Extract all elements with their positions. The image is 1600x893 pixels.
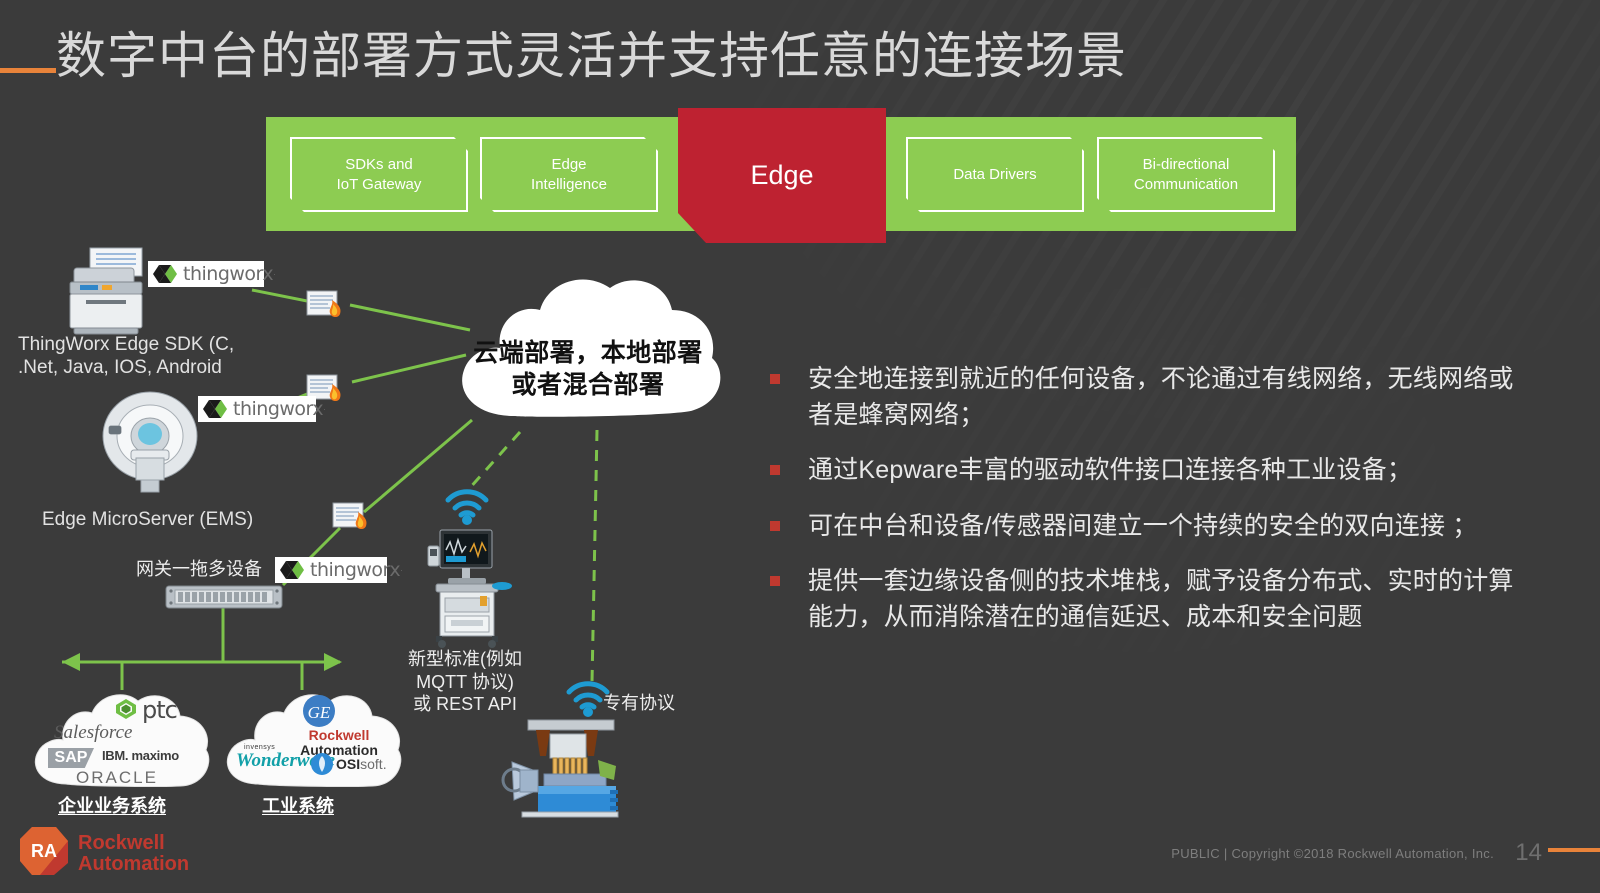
bullet-marker [770, 374, 780, 384]
edge-badge-label: Edge [750, 160, 813, 191]
thingworx-wordmark: thingworx [310, 559, 400, 581]
svg-text:GE: GE [308, 703, 331, 722]
bullet-list: 安全地连接到就近的任何设备，不论通过有线网络，无线网络或者是蜂窝网络； 通过Ke… [770, 362, 1530, 655]
capability-box-bi-directional-communication[interactable]: Bi-directional Communication [1097, 137, 1275, 212]
bullet-text: 通过Kepware丰富的驱动软件接口连接各种工业设备； [808, 453, 1412, 489]
bullet-marker [770, 576, 780, 586]
cloud-text-line1: 云端部署，本地部署 [444, 338, 732, 370]
capability-box-line1: Bi-directional [1134, 155, 1238, 174]
footer-accent-rule [1548, 848, 1600, 852]
bullet-item: 提供一套边缘设备侧的技术堆栈，赋予设备分布式、实时的计算能力，从而消除潜在的通信… [770, 564, 1530, 635]
slide-canvas: 数字中台的部署方式灵活并支持任意的连接场景 Deployment SDKs an… [0, 0, 1600, 893]
ptc-logo-icon [114, 698, 138, 720]
proprietary-protocol-label: 专有协议 [603, 692, 675, 715]
thingworx-logo-2: thingworx· [198, 396, 316, 422]
thingworx-mark-icon [202, 398, 228, 420]
rockwell-logo-line2: Automation [78, 853, 189, 875]
turbine-machine-icon [498, 714, 644, 820]
osisoft-wordmark: OSIsoft. [336, 756, 387, 772]
gateway-multi-device-label: 网关一拖多设备 [136, 558, 262, 581]
ge-logo-icon: GE [302, 694, 336, 728]
thingworx-wordmark: thingworx [233, 398, 323, 420]
industrial-systems-cloud: GE Rockwell Automation invensys Wonderwa… [222, 686, 404, 790]
bullet-item: 安全地连接到就近的任何设备，不论通过有线网络，无线网络或者是蜂窝网络； [770, 362, 1530, 433]
thingworx-mark-icon [279, 559, 305, 581]
thingworx-logo-1: thingworx· [148, 261, 264, 287]
bullet-text: 提供一套边缘设备侧的技术堆栈，赋予设备分布式、实时的计算能力，从而消除潜在的通信… [808, 564, 1530, 635]
network-switch-icon [165, 583, 283, 611]
capability-box-line1: SDKs and [337, 155, 422, 174]
capability-box-line1: Data Drivers [953, 165, 1036, 184]
capability-box-data-drivers[interactable]: Data Drivers [906, 137, 1084, 212]
rockwell-automation-logo: RA Rockwell Automation [18, 823, 218, 879]
deployment-cloud: 云端部署，本地部署 或者混合部署 [444, 258, 732, 430]
ptc-wordmark: ptc [142, 696, 177, 724]
capability-box-edge-intelligence[interactable]: Edge Intelligence [480, 137, 658, 212]
capability-box-line2: Communication [1134, 175, 1238, 194]
salesforce-wordmark: Salesforce [54, 722, 132, 744]
deployment-cloud-text: 云端部署，本地部署 或者混合部署 [444, 338, 732, 401]
firewall-icon-1 [306, 288, 350, 320]
edge-sdk-label-line2: .Net, Java, IOS, Android [18, 356, 318, 379]
footer-copyright: PUBLIC | Copyright ©2018 Rockwell Automa… [1171, 846, 1494, 861]
osisoft-mark-icon [310, 752, 334, 776]
page-title: 数字中台的部署方式灵活并支持任意的连接场景 [56, 28, 1256, 84]
mri-scanner-icon [95, 388, 205, 498]
arrow-left [62, 653, 80, 671]
new-standards-line1: 新型标准(例如 [390, 648, 540, 671]
capability-box-line2: Intelligence [531, 175, 607, 194]
industrial-cloud-caption: 工业系统 [262, 792, 334, 818]
wifi-icon-1 [444, 486, 490, 526]
bullet-marker [770, 521, 780, 531]
new-standards-label: 新型标准(例如 MQTT 协议) 或 REST API [390, 648, 540, 716]
thingworx-wordmark: thingworx [183, 263, 273, 285]
bullet-text: 安全地连接到就近的任何设备，不论通过有线网络，无线网络或者是蜂窝网络； [808, 362, 1530, 433]
enterprise-cloud-caption: 企业业务系统 [58, 792, 166, 818]
arrow-right [324, 653, 342, 671]
bullet-marker [770, 465, 780, 475]
oracle-wordmark: ORACLE [76, 768, 158, 788]
enterprise-systems-cloud: ptc Salesforce SAP IBM. maximo ORACLE [30, 686, 212, 790]
bullet-item: 可在中台和设备/传感器间建立一个持续的安全的双向连接 ； [770, 509, 1530, 545]
footer-page-number: 14 [1515, 839, 1542, 867]
cloud-text-line2: 或者混合部署 [444, 370, 732, 402]
edge-highlight-badge[interactable]: Edge [678, 108, 886, 243]
new-standards-line3: 或 REST API [390, 693, 540, 716]
capability-box-sdks-iot-gateway[interactable]: SDKs and IoT Gateway [290, 137, 468, 212]
capability-box-line2: IoT Gateway [337, 175, 422, 194]
title-accent-bar [0, 68, 56, 73]
thingworx-mark-icon [152, 263, 178, 285]
printer-icon [64, 246, 160, 336]
medical-cart-icon [418, 528, 518, 648]
bullet-item: 通过Kepware丰富的驱动软件接口连接各种工业设备； [770, 453, 1530, 489]
svg-text:RA: RA [31, 841, 57, 861]
edge-sdk-label-line1: ThingWorx Edge SDK (C, [18, 333, 318, 356]
ibm-maximo-wordmark: IBM. maximo [102, 748, 179, 763]
edge-sdk-label: ThingWorx Edge SDK (C, .Net, Java, IOS, … [18, 333, 318, 379]
capability-box-line1: Edge [531, 155, 607, 174]
new-standards-line2: MQTT 协议) [390, 671, 540, 694]
thingworx-logo-3: thingworx· [275, 557, 387, 583]
bullet-text: 可在中台和设备/传感器间建立一个持续的安全的双向连接 ； [808, 509, 1478, 545]
rockwell-logo-line1: Rockwell [78, 832, 165, 854]
firewall-icon-3 [332, 500, 376, 532]
edge-microserver-label: Edge MicroServer (EMS) [42, 508, 322, 531]
